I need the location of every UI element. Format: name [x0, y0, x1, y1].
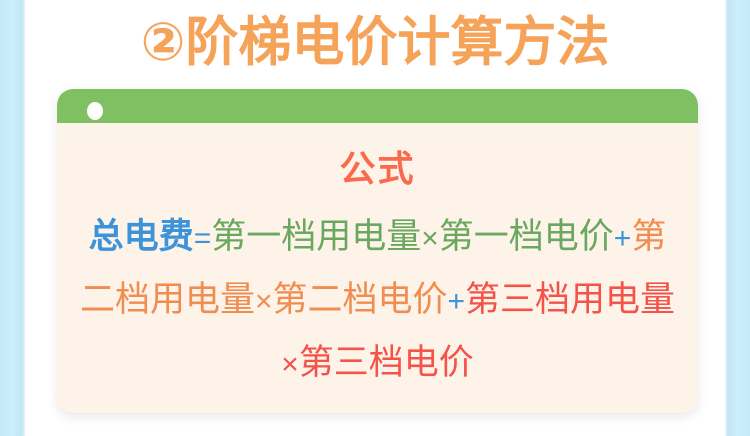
formula-card: 公式 总电费=第一档用电量×第一档电价+第 二档用电量×第二档电价+第三档用电量… — [57, 89, 698, 413]
card-body: 公式 总电费=第一档用电量×第一档电价+第 二档用电量×第二档电价+第三档用电量… — [57, 149, 698, 413]
formula-equals-op-1: = — [194, 222, 212, 255]
formula-tier2-usage-tail: 二档用电量 — [80, 280, 255, 319]
formula-heading: 公式 — [57, 149, 698, 189]
formula-tier3-price: 第三档电价 — [299, 343, 474, 382]
formula-line-1: 总电费=第一档用电量×第一档电价+第 — [65, 206, 690, 269]
formula-plus-op-1: + — [614, 222, 632, 255]
formula-multiply-op-2: × — [255, 285, 273, 318]
formula-line-3: ×第三档电价 — [65, 332, 690, 395]
formula-total-label: 总电费 — [89, 217, 194, 256]
card-header-bar — [57, 89, 698, 123]
formula-text: 总电费=第一档用电量×第一档电价+第 二档用电量×第二档电价+第三档用电量 ×第… — [57, 206, 698, 395]
formula-plus-op-2: + — [448, 285, 466, 318]
formula-tier2-usage-head: 第 — [631, 217, 666, 256]
formula-line-2: 二档用电量×第二档电价+第三档用电量 — [65, 269, 690, 332]
formula-tier1-usage: 第一档用电量 — [211, 217, 421, 256]
header-dot-icon — [87, 102, 103, 120]
formula-multiply-op-3: × — [281, 348, 299, 381]
page-title: ②阶梯电价计算方法 — [0, 13, 750, 73]
formula-tier2-price: 第二档电价 — [272, 280, 447, 319]
formula-tier1-price: 第一档电价 — [439, 217, 614, 256]
formula-tier3-usage: 第三档用电量 — [465, 280, 675, 319]
formula-multiply-op-1: × — [421, 222, 439, 255]
